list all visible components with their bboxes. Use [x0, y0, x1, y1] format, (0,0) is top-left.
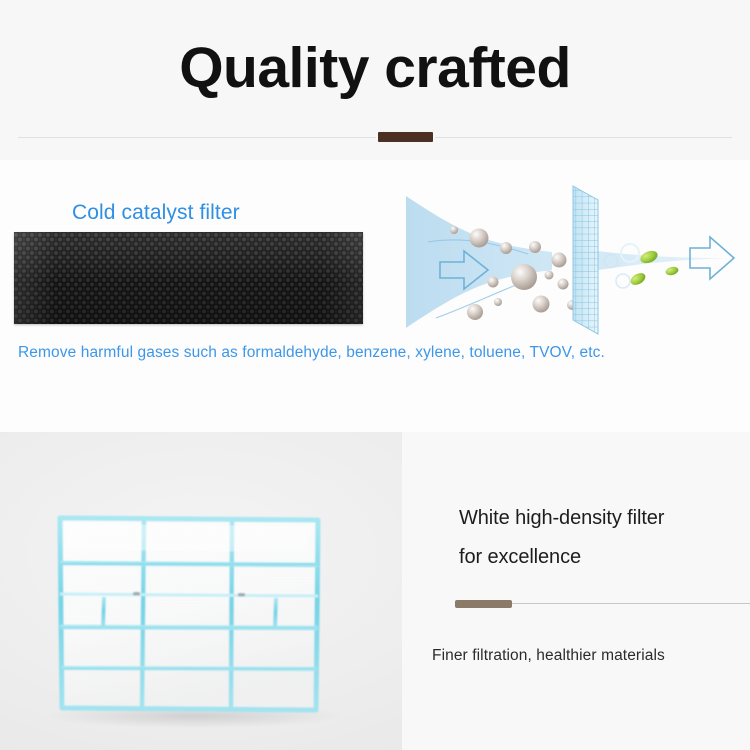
cold-catalyst-filter-title: Cold catalyst filter — [72, 200, 240, 226]
white-filter-heading: White high-density filter for excellence — [459, 499, 739, 577]
particle-group-clean — [605, 244, 680, 288]
white-high-density-filter-photo — [0, 432, 402, 750]
product-feature-page: Quality crafted Cold catalyst filter — [0, 0, 750, 750]
white-filter-heading-line-1: White high-density filter — [459, 499, 739, 538]
page-title: Quality crafted — [0, 33, 750, 103]
page-header: Quality crafted — [0, 0, 750, 160]
section-cold-catalyst-filter: Cold catalyst filter — [0, 160, 750, 432]
white-filter-divider — [455, 600, 750, 608]
section-white-filter-image — [0, 432, 402, 750]
divider-accent-bar — [455, 600, 512, 608]
header-divider-line — [18, 137, 732, 138]
white-filter-caption: Finer filtration, healthier materials — [432, 645, 750, 667]
white-filter-heading-line-2: for excellence — [459, 538, 739, 577]
section-white-filter-text: White high-density filter for excellence… — [402, 432, 750, 750]
header-accent-bar — [378, 132, 433, 142]
cold-catalyst-filter-caption: Remove harmful gases such as formaldehyd… — [18, 342, 732, 364]
airflow-filtration-diagram — [402, 178, 742, 338]
filter-frame-assembly — [60, 518, 318, 710]
honeycomb-carbon-filter-photo — [14, 232, 363, 324]
filter-mesh-panel — [573, 186, 598, 334]
